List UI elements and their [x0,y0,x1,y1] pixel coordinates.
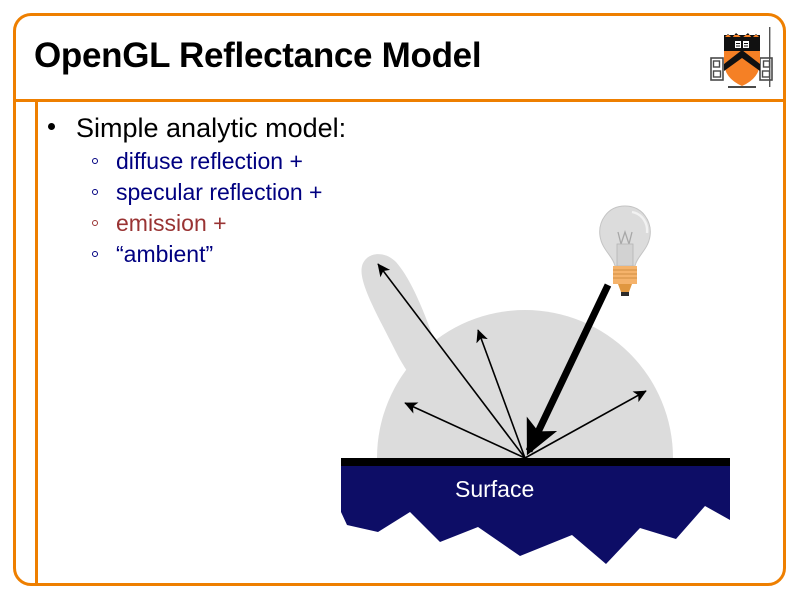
surface-label: Surface [455,476,534,503]
surface-slab [341,466,730,564]
slide: OpenGL Reflectance Model [0,0,800,600]
reflectance-diagram [0,0,800,600]
surface-top-edge [341,458,730,466]
light-bulb-icon [600,206,651,296]
